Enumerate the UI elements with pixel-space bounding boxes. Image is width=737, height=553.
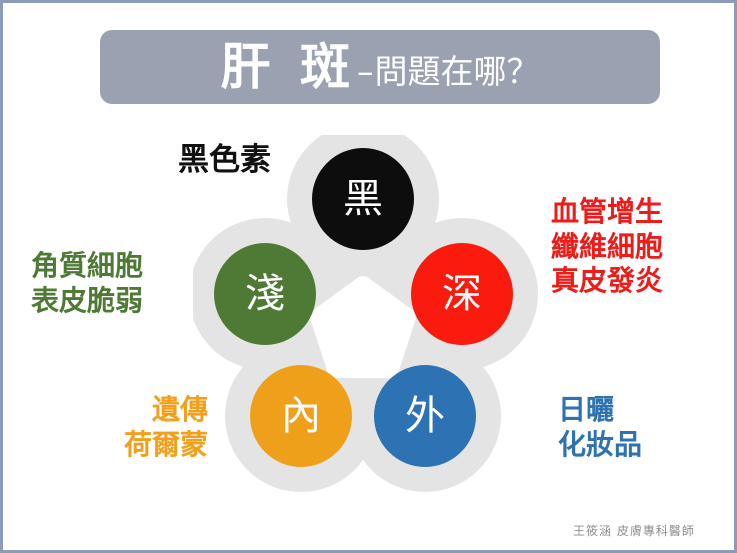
flower-center-pentagon [319,285,407,369]
label-genetic-line-1: 遺傳 [58,393,208,428]
label-vessel: 血管增生 纖維細胞 真皮發炎 [551,195,663,299]
label-vessel-line-3: 真皮發炎 [551,264,663,299]
node-outer-label: 外 [405,396,445,436]
title-subtitle: 問題在哪？ [374,55,539,88]
node-outer[interactable]: 外 [374,365,476,467]
label-keratinocyte-line-2: 表皮脆弱 [31,284,143,319]
node-black-label: 黑 [343,179,383,219]
label-sun: 日曬 化妝品 [558,393,642,462]
node-deep-label: 深 [442,274,482,314]
label-vessel-line-2: 纖維細胞 [551,230,663,265]
label-keratinocyte: 角質細胞 表皮脆弱 [31,249,143,318]
slide-canvas: 肝 斑 – 問題在哪？ 黑 淺 深 內 外 [0,0,737,553]
page-title: 肝 斑 [221,42,356,92]
label-melanin: 黑色素 [178,141,271,179]
node-light-label: 淺 [245,274,285,314]
node-black[interactable]: 黑 [312,148,414,250]
node-inner[interactable]: 內 [250,365,352,467]
author-signature: 王筱涵 皮膚專科醫師 [573,522,695,539]
label-genetic: 遺傳 荷爾蒙 [58,393,208,462]
title-dash: – [356,55,375,88]
label-vessel-line-1: 血管增生 [551,195,663,230]
label-genetic-line-2: 荷爾蒙 [58,428,208,463]
node-inner-label: 內 [281,396,321,436]
flower-diagram: 黑 淺 深 內 外 [193,135,553,505]
label-sun-line-1: 日曬 [558,393,642,428]
label-keratinocyte-line-1: 角質細胞 [31,249,143,284]
label-sun-line-2: 化妝品 [558,428,642,463]
node-deep[interactable]: 深 [411,243,513,345]
title-banner: 肝 斑 – 問題在哪？ [100,30,660,104]
label-melanin-line-1: 黑色素 [178,141,271,179]
node-light[interactable]: 淺 [214,243,316,345]
